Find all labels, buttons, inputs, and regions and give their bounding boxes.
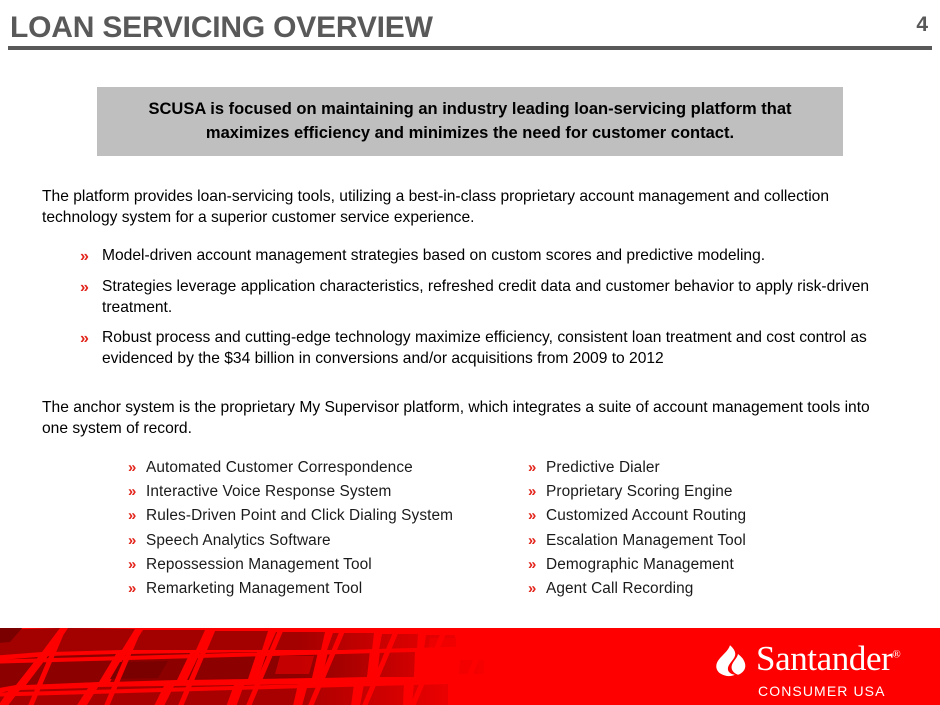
chevron-double-right-icon: » xyxy=(528,459,546,476)
brand-name: Santander® xyxy=(756,638,900,679)
chevron-double-right-icon: » xyxy=(128,507,146,524)
feature-column-right: » Predictive Dialer » Proprietary Scorin… xyxy=(528,459,908,604)
list-item: » Automated Customer Correspondence xyxy=(128,459,528,483)
chevron-double-right-icon: » xyxy=(528,556,546,573)
chevron-double-right-icon: » xyxy=(128,580,146,597)
chevron-double-right-icon: » xyxy=(80,246,102,267)
chevron-double-right-icon: » xyxy=(80,328,102,349)
feature-label: Agent Call Recording xyxy=(546,580,693,598)
page-number: 4 xyxy=(916,13,928,37)
slide-header: LOAN SERVICING OVERVIEW 4 xyxy=(0,0,940,58)
list-item: » Robust process and cutting-edge techno… xyxy=(80,328,910,369)
callout-text: SCUSA is focused on maintaining an indus… xyxy=(113,98,827,146)
chevron-double-right-icon: » xyxy=(528,580,546,597)
feature-label: Interactive Voice Response System xyxy=(146,483,391,501)
santander-logo: Santander® CONSUMER USA xyxy=(708,638,918,700)
callout-banner: SCUSA is focused on maintaining an indus… xyxy=(97,87,843,156)
list-item: » Strategies leverage application charac… xyxy=(80,277,910,318)
bullet-list: » Model-driven account management strate… xyxy=(80,246,910,379)
page-title: LOAN SERVICING OVERVIEW xyxy=(10,11,433,45)
chevron-double-right-icon: » xyxy=(528,483,546,500)
chevron-double-right-icon: » xyxy=(128,459,146,476)
feature-label: Escalation Management Tool xyxy=(546,532,746,550)
chevron-double-right-icon: » xyxy=(128,556,146,573)
feature-label: Rules-Driven Point and Click Dialing Sys… xyxy=(146,507,453,525)
list-item: » Escalation Management Tool xyxy=(528,532,908,556)
feature-label: Speech Analytics Software xyxy=(146,532,331,550)
bullet-text: Robust process and cutting-edge technolo… xyxy=(102,328,910,369)
list-item: » Rules-Driven Point and Click Dialing S… xyxy=(128,507,528,531)
bullet-text: Model-driven account management strategi… xyxy=(102,246,910,267)
list-item: » Repossession Management Tool xyxy=(128,556,528,580)
list-item: » Predictive Dialer xyxy=(528,459,908,483)
feature-label: Proprietary Scoring Engine xyxy=(546,483,733,501)
feature-label: Customized Account Routing xyxy=(546,507,746,525)
feature-columns: » Automated Customer Correspondence » In… xyxy=(128,459,918,604)
registered-mark-icon: ® xyxy=(892,648,900,660)
brand-subtitle: CONSUMER USA xyxy=(758,683,886,699)
list-item: » Customized Account Routing xyxy=(528,507,908,531)
chevron-double-right-icon: » xyxy=(528,507,546,524)
list-item: » Demographic Management xyxy=(528,556,908,580)
chevron-double-right-icon: » xyxy=(128,532,146,549)
bullet-text: Strategies leverage application characte… xyxy=(102,277,910,318)
list-item: » Proprietary Scoring Engine xyxy=(528,483,908,507)
slide-footer: Santander® CONSUMER USA xyxy=(0,628,940,705)
feature-label: Remarketing Management Tool xyxy=(146,580,362,598)
slide: LOAN SERVICING OVERVIEW 4 SCUSA is focus… xyxy=(0,0,940,705)
brand-name-text: Santander xyxy=(756,639,892,678)
feature-column-left: » Automated Customer Correspondence » In… xyxy=(128,459,528,604)
intro-paragraph: The platform provides loan-servicing too… xyxy=(42,186,904,228)
list-item: » Interactive Voice Response System xyxy=(128,483,528,507)
header-divider xyxy=(8,46,932,50)
list-item: » Speech Analytics Software xyxy=(128,532,528,556)
list-item: » Remarketing Management Tool xyxy=(128,580,528,604)
chevron-double-right-icon: » xyxy=(128,483,146,500)
list-item: » Agent Call Recording xyxy=(528,580,908,604)
chevron-double-right-icon: » xyxy=(528,532,546,549)
santander-flame-icon xyxy=(710,642,750,682)
feature-label: Demographic Management xyxy=(546,556,734,574)
anchor-paragraph: The anchor system is the proprietary My … xyxy=(42,397,887,439)
chevron-double-right-icon: » xyxy=(80,277,102,298)
list-item: » Model-driven account management strate… xyxy=(80,246,910,267)
feature-label: Predictive Dialer xyxy=(546,459,660,477)
feature-label: Repossession Management Tool xyxy=(146,556,372,574)
footer-pattern-fade xyxy=(0,628,540,705)
feature-label: Automated Customer Correspondence xyxy=(146,459,413,477)
